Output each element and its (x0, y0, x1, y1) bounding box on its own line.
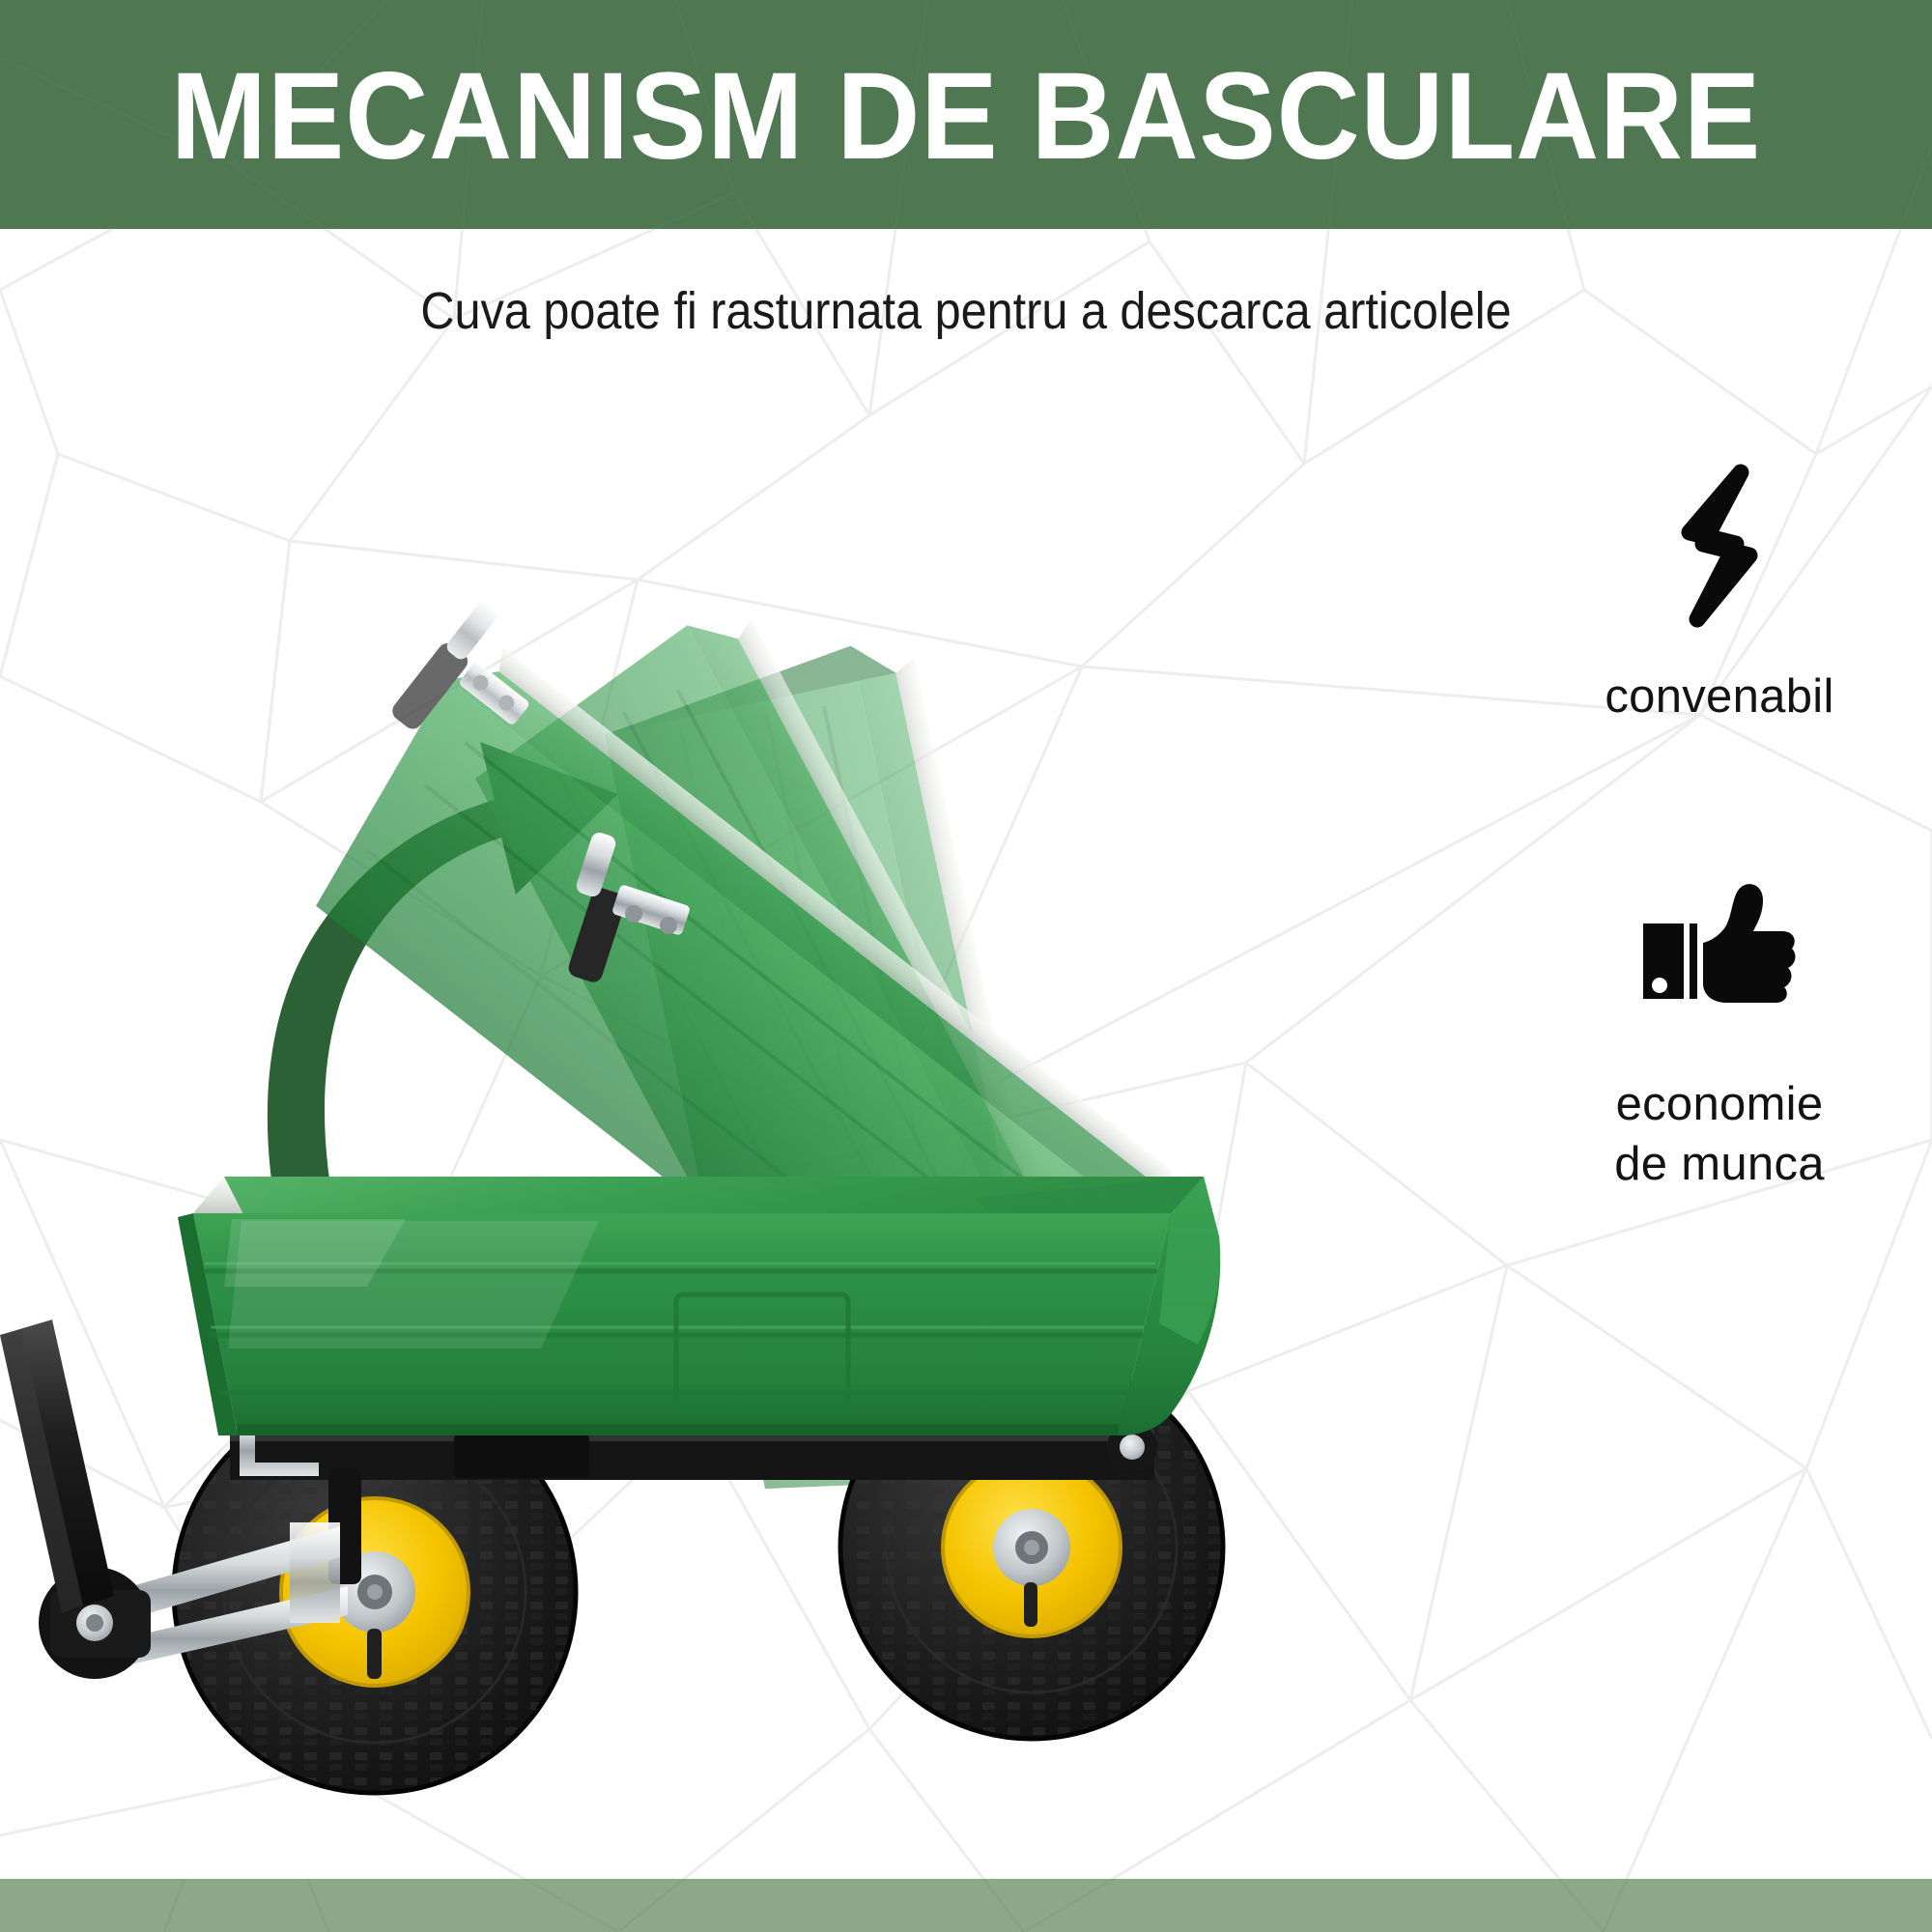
lightning-bolt-glyph (1647, 459, 1792, 633)
thumbs-up-glyph (1637, 881, 1802, 1026)
feature-item-economie: economie de munca (1507, 862, 1932, 1194)
product-illustration (0, 367, 1507, 1874)
footer-band (0, 1879, 1932, 1932)
product-infographic: MECANISM DE BASCULARE Cuva poate fi rast… (0, 0, 1932, 1932)
footer-background (0, 1879, 1932, 1932)
feature-label-economie: economie de munca (1614, 1074, 1825, 1194)
subtitle-text: Cuva poate fi rasturnata pentru a descar… (97, 280, 1835, 342)
dump-cart-graphic (0, 367, 1507, 1874)
page-title: MECANISM DE BASCULARE (68, 44, 1864, 189)
tipping-pivot-bolt (1120, 1435, 1145, 1460)
thumbs-up-icon (1633, 862, 1806, 1045)
feature-item-convenabil: convenabil (1507, 454, 1932, 726)
frame-label-plate (454, 1434, 589, 1478)
lightning-bolt-icon (1633, 454, 1806, 638)
rear-valve-stem (1024, 1582, 1037, 1627)
feature-list: convenabil economie de munca (1507, 454, 1932, 1262)
cart-tub-resting (178, 1177, 1220, 1435)
feature-label-convenabil: convenabil (1605, 667, 1833, 726)
front-valve-stem (367, 1629, 382, 1679)
header-band: MECANISM DE BASCULARE (0, 0, 1932, 229)
